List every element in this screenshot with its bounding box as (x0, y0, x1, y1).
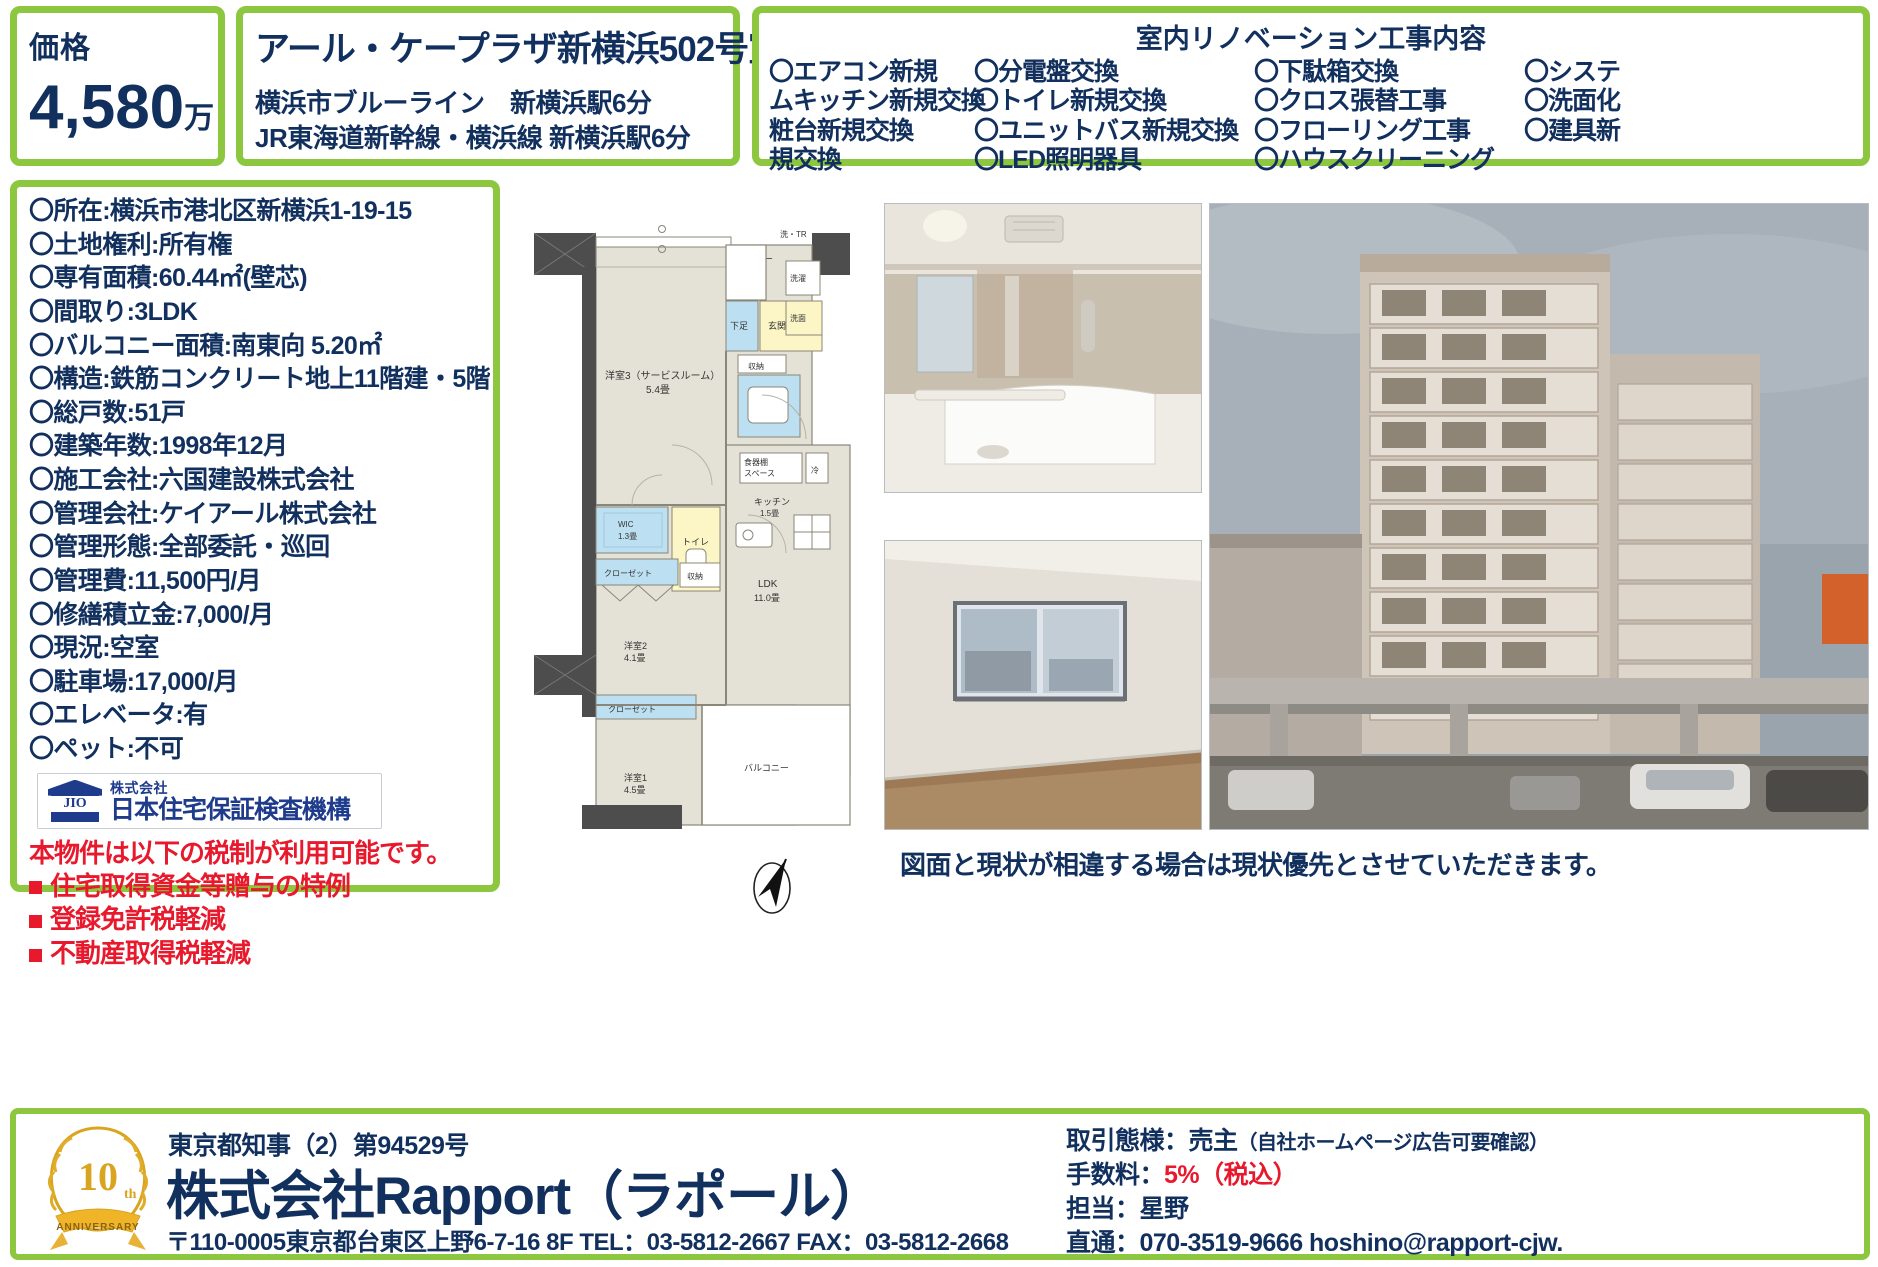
tax-item-label: 登録免許税軽減 (50, 904, 225, 934)
tax-item: 不動産取得税軽減 (29, 937, 483, 971)
company-footer: 10 th ANNIVERSARY 東京都知事（2）第94529号 株式会社Ra… (10, 1108, 1870, 1260)
photo-bathroom (884, 203, 1202, 493)
renovation-heading: 室内リノベーション工事内容 (769, 17, 1853, 56)
fee-row: 手数料：5%（税込） (1066, 1158, 1563, 1192)
plan-label-wic: WIC (618, 520, 634, 529)
plan-label-washer-dryer: 洗・TR (780, 229, 807, 239)
plan-label-entrance: 玄関 (768, 320, 786, 331)
direct-contact-row: 直通：070-3519-9666 hoshino@rapport-cjw. (1066, 1226, 1563, 1260)
tax-item-label: 住宅取得資金等贈与の特例 (50, 871, 350, 901)
plan-label-room3-size: 5.4畳 (646, 384, 670, 396)
staff-row: 担当：星野 (1066, 1192, 1563, 1226)
detail-row: 〇専有面積:60.44㎡(壁芯) (29, 262, 483, 296)
plan-label-laundry: 洗濯 (790, 273, 806, 283)
anniversary-medal-icon: 10 th ANNIVERSARY (38, 1120, 158, 1250)
anniversary-th: th (124, 1187, 137, 1202)
plan-label-ldk-size: 11.0畳 (754, 593, 780, 603)
plan-label-ldk: LDK (758, 579, 778, 590)
renovation-item: 粧台新規交換 (769, 117, 974, 146)
plan-label-storage-2: 収納 (748, 361, 764, 371)
renovation-item: 〇フローリング工事 (1254, 117, 1524, 146)
detail-row: 〇管理費:11,500円/月 (29, 565, 483, 599)
renovation-item: 〇下駄箱交換 (1254, 58, 1524, 87)
detail-row: 〇建築年数:1998年12月 (29, 430, 483, 464)
price-number: 4,580 (29, 73, 184, 142)
plan-label-closet-1: クローゼット (604, 568, 652, 578)
bullet-square-icon (29, 949, 42, 962)
detail-row: 〇土地権利:所有権 (29, 229, 483, 263)
renovation-box: 室内リノベーション工事内容 〇エアコン新規 〇分電盤交換 〇下駄箱交換 〇システ… (752, 6, 1870, 166)
price-value: 4,580万 (29, 77, 206, 139)
renovation-item (1524, 146, 1853, 175)
renovation-item: 〇エアコン新規 (769, 58, 974, 87)
detail-row: 〇間取り:3LDK (29, 296, 483, 330)
detail-row: 〇施工会社:六国建設株式会社 (29, 464, 483, 498)
plan-label-wic-size: 1.3畳 (618, 532, 637, 541)
building-title-box: アール・ケープラザ新横浜502号室 横浜市ブルーライン 新横浜駅6分 JR東海道… (236, 6, 740, 166)
deal-type-row: 取引態様：売主（自社ホームページ広告可要確認） (1066, 1124, 1563, 1158)
renovation-item: 〇トイレ新規交換 (974, 87, 1254, 116)
plan-label-toilet: トイレ (682, 537, 709, 547)
tax-item-label: 不動産取得税軽減 (50, 938, 250, 968)
renovation-grid: 〇エアコン新規 〇分電盤交換 〇下駄箱交換 〇システ ムキッチン新規交換 〇トイ… (769, 58, 1853, 175)
jio-house-icon: JIO (48, 780, 102, 822)
plan-label-room1: 洋室1 (624, 772, 647, 783)
detail-row: 〇エレベータ:有 (29, 699, 483, 733)
plan-label-cupboard: 食器棚 (744, 457, 768, 467)
plan-label-room2-size: 4.1畳 (624, 653, 646, 663)
renovation-item: 規交換 (769, 146, 974, 175)
detail-row: 〇修繕積立金:7,000/月 (29, 599, 483, 633)
plan-label-washbasin: 洗面 (790, 313, 806, 323)
jio-badge: JIO 株式会社 日本住宅保証検査機構 (37, 773, 382, 829)
price-label: 価格 (29, 23, 206, 67)
transaction-info: 取引態様：売主（自社ホームページ広告可要確認） 手数料：5%（税込） 担当：星野… (1066, 1124, 1563, 1260)
plan-label-room2: 洋室2 (624, 640, 647, 651)
bullet-square-icon (29, 881, 42, 894)
detail-row: 〇管理会社:ケイアール株式会社 (29, 498, 483, 532)
deal-type-note: （自社ホームページ広告可要確認） (1238, 1132, 1549, 1154)
detail-row: 〇構造:鉄筋コンクリート地上11階建・5階 (29, 363, 483, 397)
renovation-item: 〇クロス張替工事 (1254, 87, 1524, 116)
building-name: アール・ケープラザ新横浜502号室 (255, 21, 721, 72)
company-name: 株式会社Rapport（ラポール） (166, 1154, 882, 1230)
bullet-square-icon (29, 915, 42, 928)
detail-row: 〇所在:横浜市港北区新横浜1-19-15 (29, 195, 483, 229)
detail-row: 〇総戸数:51戸 (29, 397, 483, 431)
renovation-item: 〇洗面化 (1524, 87, 1853, 116)
access-line-1: 横浜市ブルーライン 新横浜駅6分 (255, 86, 721, 121)
renovation-item: 〇ハウスクリーニング (1254, 146, 1524, 175)
renovation-item: ムキッチン新規交換 (769, 87, 974, 116)
fee-value: 5%（税込） (1164, 1161, 1297, 1189)
photo-room-interior (884, 540, 1202, 830)
detail-row: 〇バルコニー面積:南東向 5.20㎡ (29, 330, 483, 364)
access-lines: 横浜市ブルーライン 新横浜駅6分 JR東海道新幹線・横浜線 新横浜駅6分 (255, 86, 721, 156)
detail-row: 〇ペット:不可 (29, 733, 483, 767)
detail-row: 〇管理形態:全部委託・巡回 (29, 531, 483, 565)
access-line-2: JR東海道新幹線・横浜線 新横浜駅6分 (255, 121, 721, 156)
floor-plan: カウンター 洗・TR 下足 玄関 洋室3（サービスルーム） 5.4畳 WIC 1… (512, 215, 872, 875)
tax-item: 登録免許税軽減 (29, 903, 483, 937)
plan-label-room1-size: 4.5畳 (624, 785, 646, 795)
fee-label: 手数料： (1066, 1161, 1164, 1189)
tax-item: 住宅取得資金等贈与の特例 (29, 870, 483, 904)
plan-disclaimer: 図面と現状が相違する場合は現状優先とさせていただきます。 (900, 845, 1870, 882)
plan-label-cupboard-2: スペース (744, 469, 775, 478)
price-unit: 万 (184, 102, 214, 135)
detail-row: 〇駐車場:17,000/月 (29, 666, 483, 700)
property-details-box: 〇所在:横浜市港北区新横浜1-19-15 〇土地権利:所有権 〇専有面積:60.… (10, 180, 500, 892)
detail-row: 〇現況:空室 (29, 632, 483, 666)
anniversary-number: 10 (78, 1154, 118, 1199)
renovation-item: 〇分電盤交換 (974, 58, 1254, 87)
plan-label-room3: 洋室3（サービスルーム） (605, 369, 720, 382)
price-box: 価格 4,580万 (10, 6, 225, 166)
plan-label-balcony: バルコニー (744, 763, 789, 773)
jio-org-name: 日本住宅保証検査機構 (110, 798, 350, 823)
jio-mark-label: JIO (51, 796, 99, 812)
plan-label-kitchen-size: 1.5畳 (760, 509, 779, 518)
renovation-item: 〇システ (1524, 58, 1853, 87)
tax-heading: 本物件は以下の税制が利用可能です。 (29, 833, 483, 870)
plan-label-storage-1: 収納 (687, 571, 703, 581)
renovation-item: 〇LED照明器具 (974, 146, 1254, 175)
renovation-item: 〇建具新 (1524, 117, 1853, 146)
deal-type-label: 取引態様：売主 (1066, 1127, 1238, 1155)
photo-building-exterior (1209, 203, 1869, 830)
anniversary-ribbon: ANNIVERSARY (56, 1222, 139, 1233)
company-address: 〒110-0005東京都台東区上野6-7-16 8F TEL：03-5812-2… (166, 1222, 1008, 1257)
plan-label-shoe: 下足 (730, 321, 748, 331)
plan-label-fridge: 冷 (811, 465, 819, 475)
renovation-item: 〇ユニットバス新規交換 (974, 117, 1254, 146)
compass-north-icon (742, 855, 802, 917)
plan-label-kitchen: キッチン (754, 497, 790, 507)
